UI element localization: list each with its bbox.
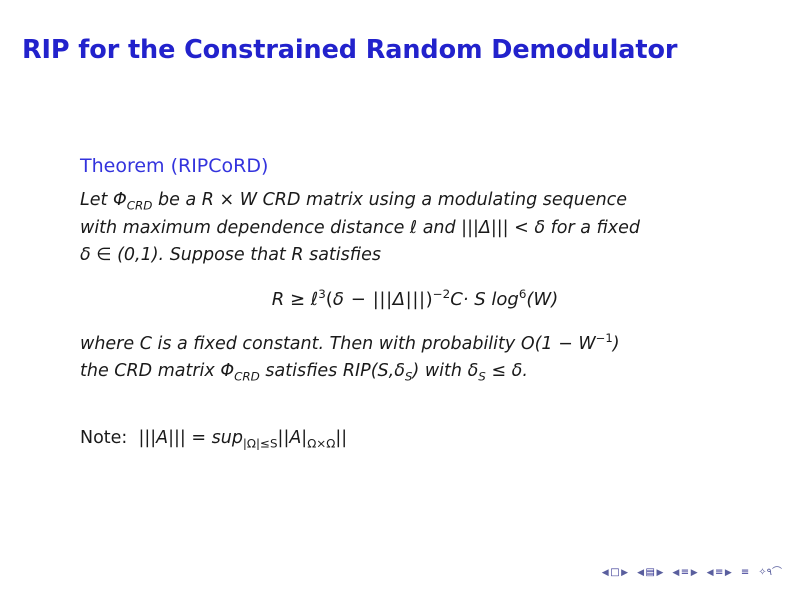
theorem-line-1: Let ΦCRD be a R × W CRD matrix using a m… xyxy=(80,187,720,215)
prev-subsection-icon[interactable]: ◀ xyxy=(672,569,679,578)
equation-delta-term: δ − |||Δ||| xyxy=(333,289,426,310)
back-find-icon[interactable]: ✧٩⌒ xyxy=(758,568,782,578)
theorem-heading: Theorem (RIPCoRD) xyxy=(80,155,720,179)
delta-symbol-2: δ xyxy=(468,361,479,381)
nav-group-section[interactable]: ◀ ≡ ▶ xyxy=(707,568,732,578)
note-norm-c: || xyxy=(335,428,347,448)
equation-tail: C· S log xyxy=(450,289,519,310)
note-line: Note: |||A||| = sup|Ω|≤S||A|Ω×Ω|| xyxy=(80,428,347,451)
slide-canvas: RIP for the Constrained Random Demodulat… xyxy=(0,0,800,600)
phi-symbol-2: Φ xyxy=(220,361,234,381)
equation-paren-close: ) xyxy=(426,289,433,310)
note-label: Note: xyxy=(80,428,127,448)
next-subsection-icon[interactable]: ▶ xyxy=(691,569,698,578)
next-slide-icon[interactable]: ▶ xyxy=(621,569,628,578)
prev-frame-icon[interactable]: ◀ xyxy=(637,569,644,578)
slide-square-icon[interactable]: □ xyxy=(610,568,619,578)
theorem-block: Theorem (RIPCoRD) Let ΦCRD be a R × W CR… xyxy=(80,155,720,386)
nav-group-subsection[interactable]: ◀ ≡ ▶ xyxy=(672,568,697,578)
prev-section-icon[interactable]: ◀ xyxy=(707,569,714,578)
theorem-line-5: the CRD matrix ΦCRD satisfies RIP(S,δS) … xyxy=(80,358,720,386)
beamer-navigation-bar[interactable]: ◀ □ ▶ ◀ ▤ ▶ ◀ ≡ ▶ ◀ ≡ ▶ ≡ ✧٩⌒ xyxy=(602,568,782,578)
theorem-body: Let ΦCRD be a R × W CRD matrix using a m… xyxy=(80,187,720,386)
equation-lhs: R ≥ xyxy=(272,289,311,310)
phi-subscript: CRD xyxy=(127,198,153,212)
frame-grid-icon[interactable]: ▤ xyxy=(646,568,655,578)
theorem-line-5-a: the CRD matrix xyxy=(80,361,220,381)
next-section-icon[interactable]: ▶ xyxy=(725,569,732,578)
equation-argument: (W) xyxy=(526,289,558,310)
note-sup-subscript: |Ω|≤S xyxy=(243,437,278,451)
section-lines-icon[interactable]: ≡ xyxy=(715,568,723,578)
delta-symbol-1: δ xyxy=(394,361,405,381)
delta-subscript-2: S xyxy=(478,369,486,383)
equation-paren-open: ( xyxy=(326,289,333,310)
theorem-line-4: where C is a fixed constant. Then with p… xyxy=(80,330,720,358)
equation-neg-two-exponent: −2 xyxy=(433,287,451,301)
phi-symbol: Φ xyxy=(113,190,127,210)
theorem-line-5-b: satisfies RIP(S, xyxy=(260,361,394,381)
ell-exponent: 3 xyxy=(318,287,326,301)
prev-slide-icon[interactable]: ◀ xyxy=(602,569,609,578)
document-overview-icon[interactable]: ≡ xyxy=(741,568,749,578)
nav-group-frame[interactable]: ◀ ▤ ▶ xyxy=(637,568,663,578)
display-equation: R ≥ ℓ3(δ − |||Δ|||)−2C· S log6(W) xyxy=(80,285,720,314)
note-norm-b: ||A| xyxy=(278,428,308,448)
theorem-line-1-prefix: Let xyxy=(80,190,113,210)
theorem-line-5-c: ) with xyxy=(412,361,467,381)
note-norm-a: |||A||| = sup xyxy=(138,428,242,448)
nav-group-slide[interactable]: ◀ □ ▶ xyxy=(602,568,628,578)
theorem-line-3: δ ∈ (0,1). Suppose that R satisfies xyxy=(80,242,720,269)
theorem-line-4-exponent: −1 xyxy=(596,331,613,345)
theorem-line-2: with maximum dependence distance ℓ and |… xyxy=(80,215,720,242)
theorem-line-4-close: ) xyxy=(613,334,620,354)
phi-subscript-2: CRD xyxy=(234,369,260,383)
subsection-lines-icon[interactable]: ≡ xyxy=(681,568,689,578)
page-title: RIP for the Constrained Random Demodulat… xyxy=(22,35,677,65)
theorem-line-5-d: ≤ δ. xyxy=(486,361,528,381)
next-frame-icon[interactable]: ▶ xyxy=(656,569,663,578)
theorem-line-1-rest: be a R × W CRD matrix using a modulating… xyxy=(152,190,627,210)
note-restriction-subscript: Ω×Ω xyxy=(307,437,335,451)
theorem-line-4-text: where C is a fixed constant. Then with p… xyxy=(80,334,596,354)
